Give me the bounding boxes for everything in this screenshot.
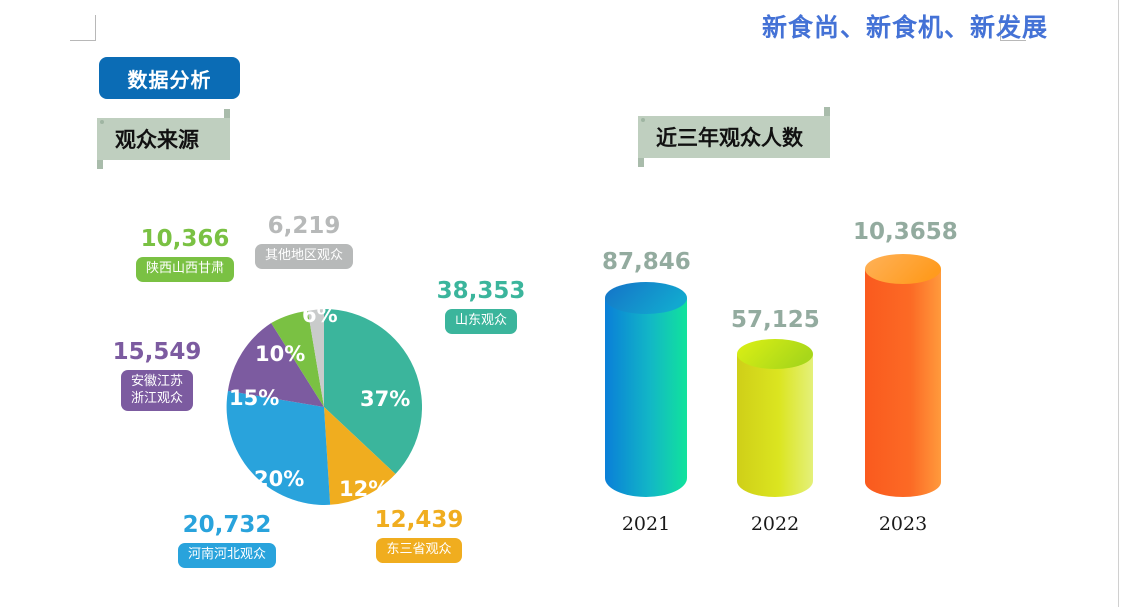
pie-percent-other: 6% <box>302 303 338 327</box>
callout-anhui: 15,549 安徽江苏 浙江观众 <box>103 340 211 411</box>
callout-shandong: 38,353 山东观众 <box>427 279 535 334</box>
callout-anhui-pill: 安徽江苏 浙江观众 <box>121 370 193 411</box>
banner-nub-bottom-left <box>97 160 103 169</box>
banner-audience-source: 观众来源 <box>97 118 230 160</box>
banner-dot-top-left <box>641 118 645 122</box>
banner-dot-top-left <box>100 120 104 124</box>
callout-other-pill: 其他地区观众 <box>255 244 353 268</box>
callout-anhui-value: 15,549 <box>103 340 211 365</box>
banner-attendance-three-years: 近三年观众人数 <box>638 116 830 158</box>
cylinder-2021[interactable] <box>605 282 687 497</box>
callout-shandong-value: 38,353 <box>427 279 535 304</box>
callout-shaanxi: 10,366 陕西山西甘肃 <box>126 227 244 282</box>
bar-value-2022: 57,125 <box>731 307 819 333</box>
pie-percent-henanhebei: 20% <box>254 467 304 491</box>
pie-percent-shaanxi: 10% <box>255 342 305 366</box>
bar-chart: 87,846 <box>560 195 980 555</box>
callout-shaanxi-pill: 陕西山西甘肃 <box>136 257 234 281</box>
banner-nub-top-right <box>824 107 830 116</box>
callout-other-value: 6,219 <box>250 214 358 239</box>
bar-group-2021: 87,846 <box>605 195 687 555</box>
callout-dongsan: 12,439 东三省观众 <box>365 508 473 563</box>
pie-chart: 37% 12% 20% 15% 10% 6% <box>226 309 422 505</box>
bar-value-2023: 10,3658 <box>853 219 953 245</box>
banner-nub-top-right <box>224 109 230 118</box>
pie-percent-dongsan: 12% <box>339 477 389 501</box>
section-chip-data-analysis[interactable]: 数据分析 <box>99 57 240 99</box>
cylinder-2022[interactable] <box>737 339 813 497</box>
callout-henanhebei-value: 20,732 <box>168 513 286 538</box>
callout-henanhebei: 20,732 河南河北观众 <box>168 513 286 568</box>
callout-other: 6,219 其他地区观众 <box>250 214 358 269</box>
banner-audience-source-label: 观众来源 <box>115 124 199 154</box>
bar-value-2021: 87,846 <box>602 249 690 275</box>
banner-attendance-label: 近三年观众人数 <box>656 122 803 152</box>
margin-mark-top-left <box>70 15 96 41</box>
callout-shaanxi-value: 10,366 <box>126 227 244 252</box>
page-title: 新食尚、新食机、新发展 <box>762 8 1048 44</box>
bar-year-2021: 2021 <box>602 513 690 535</box>
bar-group-2022: 57,125 <box>737 195 813 555</box>
pie-percent-shandong: 37% <box>360 387 410 411</box>
bar-year-2022: 2022 <box>731 513 819 535</box>
pie-percent-anhui: 15% <box>229 386 279 410</box>
bar-group-2023: 10,3658 <box>865 195 941 555</box>
cylinder-2023[interactable] <box>865 254 941 497</box>
document-page: 新食尚、新食机、新发展 数据分析 观众来源 近三年观众人数 37% 1 <box>0 0 1125 607</box>
banner-nub-bottom-left <box>638 158 644 167</box>
callout-henanhebei-pill: 河南河北观众 <box>178 543 276 567</box>
bar-year-2023: 2023 <box>859 513 947 535</box>
callout-shandong-pill: 山东观众 <box>445 309 517 333</box>
callout-dongsan-value: 12,439 <box>365 508 473 533</box>
callout-dongsan-pill: 东三省观众 <box>376 538 461 562</box>
page-right-edge-line <box>1118 0 1119 607</box>
